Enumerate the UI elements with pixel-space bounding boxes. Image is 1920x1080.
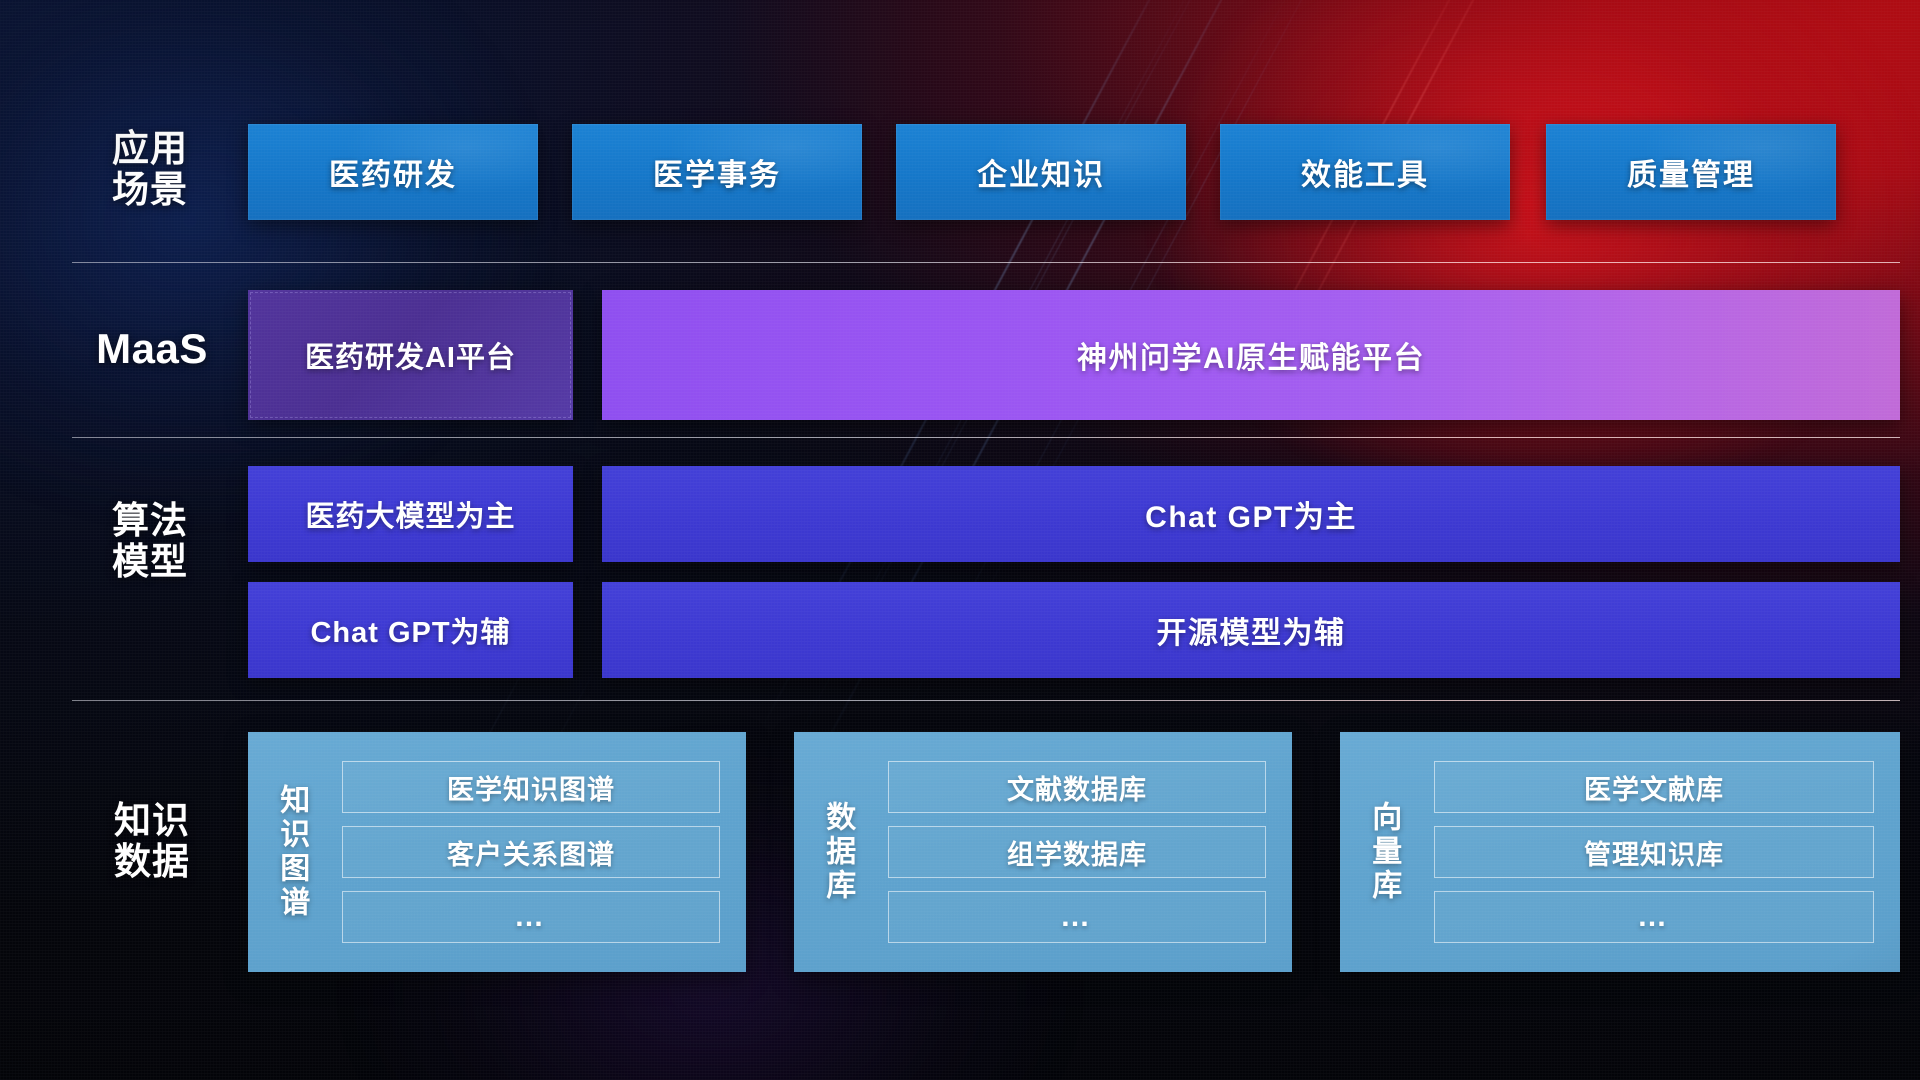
divider-maas-algorithm <box>72 437 1900 438</box>
maas-box-medical-ai-platform[interactable]: 医药研发AI平台 <box>248 290 573 420</box>
divider-application-maas <box>72 262 1900 263</box>
row-label-application-line2: 场景 <box>90 169 210 210</box>
knowledge-card-graph[interactable]: 知识图谱 医学知识图谱 客户关系图谱 … <box>248 732 746 972</box>
application-box-3-label: 企业知识 <box>977 150 1105 194</box>
maas-box-medical-ai-platform-label: 医药研发AI平台 <box>305 334 516 376</box>
knowledge-card-database-title: 数据库 <box>794 732 880 972</box>
knowledge-item-more[interactable]: … <box>888 891 1266 943</box>
knowledge-card-vector[interactable]: 向量库 医学文献库 管理知识库 … <box>1340 732 1900 972</box>
algorithm-box-primary-left-label: 医药大模型为主 <box>305 493 515 535</box>
application-box-4-label: 效能工具 <box>1301 150 1429 194</box>
knowledge-item[interactable]: 组学数据库 <box>888 826 1266 878</box>
application-box-4[interactable]: 效能工具 <box>1220 124 1510 220</box>
knowledge-card-database-items: 文献数据库 组学数据库 … <box>880 732 1292 972</box>
application-box-3[interactable]: 企业知识 <box>896 124 1186 220</box>
knowledge-item[interactable]: 医学文献库 <box>1434 761 1874 813</box>
diagram-content: 应用 场景 医药研发 医学事务 企业知识 效能工具 质量管理 MaaS 医药研发… <box>0 0 1920 1080</box>
application-box-5-label: 质量管理 <box>1627 150 1755 194</box>
knowledge-card-database[interactable]: 数据库 文献数据库 组学数据库 … <box>794 732 1292 972</box>
algorithm-box-primary-right-label: Chat GPT为主 <box>1145 492 1357 536</box>
row-label-algorithm: 算法 模型 <box>90 500 210 583</box>
row-label-maas: MaaS <box>86 325 218 372</box>
application-box-1[interactable]: 医药研发 <box>248 124 538 220</box>
row-label-application-line1: 应用 <box>90 128 210 169</box>
knowledge-card-vector-title: 向量库 <box>1340 732 1426 972</box>
algorithm-box-primary-right[interactable]: Chat GPT为主 <box>602 466 1900 562</box>
maas-box-shenzhou-wenxue-platform[interactable]: 神州问学AI原生赋能平台 <box>602 290 1900 420</box>
row-label-algorithm-line2: 模型 <box>90 541 210 582</box>
knowledge-item[interactable]: 客户关系图谱 <box>342 826 720 878</box>
maas-box-shenzhou-wenxue-platform-label: 神州问学AI原生赋能平台 <box>1077 333 1425 377</box>
row-label-knowledge-line2: 数据 <box>90 841 214 882</box>
knowledge-item[interactable]: 管理知识库 <box>1434 826 1874 878</box>
application-box-2-label: 医学事务 <box>653 150 781 194</box>
knowledge-card-graph-items: 医学知识图谱 客户关系图谱 … <box>334 732 746 972</box>
algorithm-box-primary-left[interactable]: 医药大模型为主 <box>248 466 573 562</box>
algorithm-box-secondary-left-label: Chat GPT为辅 <box>310 609 510 651</box>
row-label-algorithm-line1: 算法 <box>90 500 210 541</box>
row-label-knowledge-line1: 知识 <box>90 800 214 841</box>
application-box-2[interactable]: 医学事务 <box>572 124 862 220</box>
algorithm-box-secondary-right[interactable]: 开源模型为辅 <box>602 582 1900 678</box>
knowledge-item[interactable]: 医学知识图谱 <box>342 761 720 813</box>
knowledge-item-more[interactable]: … <box>342 891 720 943</box>
divider-algorithm-knowledge <box>72 700 1900 701</box>
knowledge-card-vector-items: 医学文献库 管理知识库 … <box>1426 732 1900 972</box>
application-box-5[interactable]: 质量管理 <box>1546 124 1836 220</box>
algorithm-box-secondary-right-label: 开源模型为辅 <box>1157 608 1346 652</box>
application-box-1-label: 医药研发 <box>329 150 457 194</box>
row-label-application: 应用 场景 <box>90 128 210 211</box>
algorithm-box-secondary-left[interactable]: Chat GPT为辅 <box>248 582 573 678</box>
row-label-knowledge: 知识 数据 <box>90 800 214 883</box>
knowledge-card-graph-title: 知识图谱 <box>248 732 334 972</box>
diagram-canvas: 应用 场景 医药研发 医学事务 企业知识 效能工具 质量管理 MaaS 医药研发… <box>0 0 1920 1080</box>
knowledge-item[interactable]: 文献数据库 <box>888 761 1266 813</box>
knowledge-item-more[interactable]: … <box>1434 891 1874 943</box>
